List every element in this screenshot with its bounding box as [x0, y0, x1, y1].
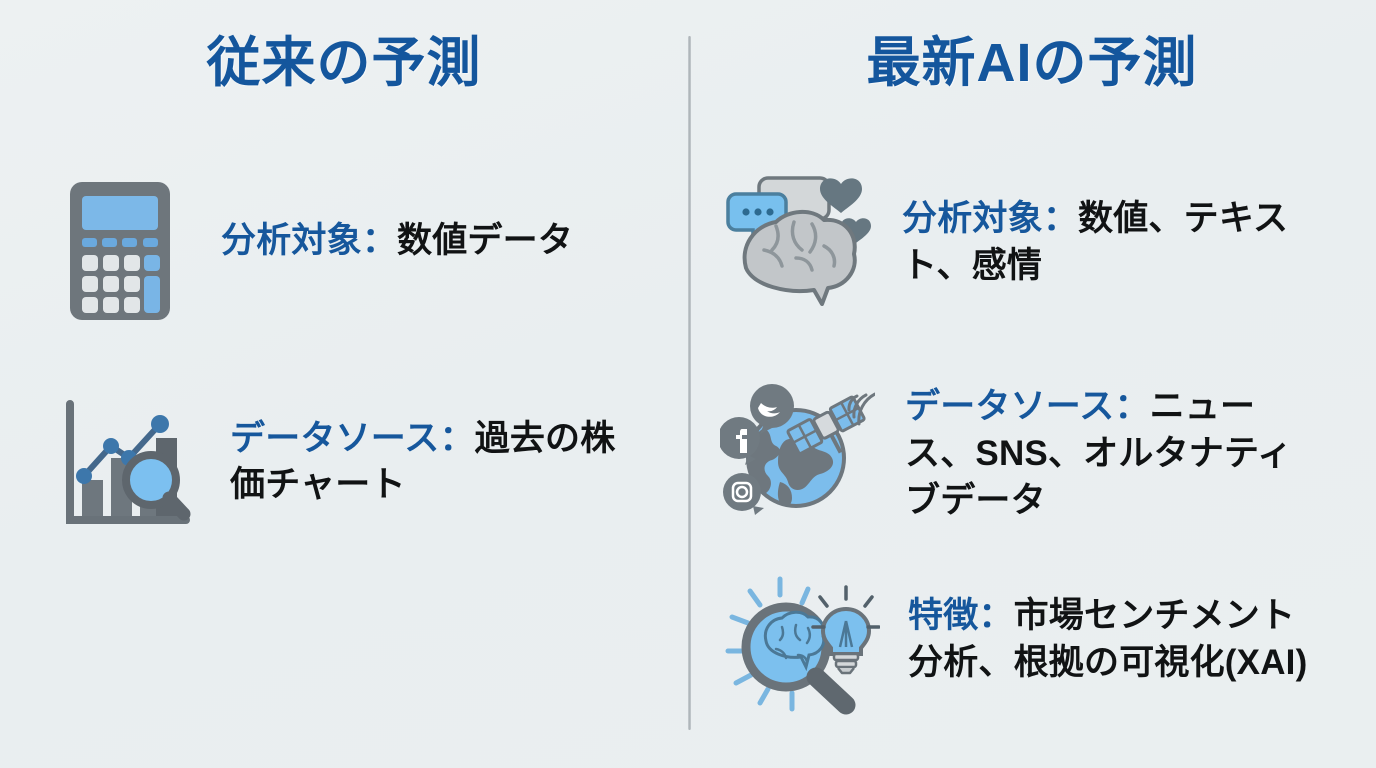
right-item-1-colon: ：	[1043, 199, 1078, 238]
left-item-1-colon: ：	[362, 221, 397, 260]
right-column: 最新AIの予測 分析対象：数値、テキスト、感情	[688, 0, 1376, 768]
left-item-2-text: データソース：過去の株価チャート	[230, 416, 650, 508]
magnifier-brain-bulb-icon	[720, 565, 880, 715]
right-item-1-label: 分析対象	[902, 199, 1043, 238]
right-item-3: 特徴：市場センチメント分析、根拠の可視化(XAI)	[720, 565, 1323, 715]
comparison-slide: 従来の予測	[0, 0, 1376, 768]
right-item-1-text: 分析対象：数値、テキスト、感情	[902, 196, 1302, 290]
bar-chart-magnifier-icon	[56, 396, 196, 536]
right-item-2-label: データソース	[905, 387, 1114, 426]
right-item-3-text: 特徴：市場センチメント分析、根拠の可視化(XAI)	[908, 593, 1323, 687]
left-item-2-label: データソース	[230, 419, 439, 458]
calculator-icon	[58, 176, 182, 326]
brain-speech-hearts-icon	[724, 166, 874, 306]
left-column: 従来の予測	[0, 0, 688, 768]
right-item-2: データソース：ニュース、SNS、オルタナティブデータ	[720, 370, 1313, 525]
right-item-2-text: データソース：ニュース、SNS、オルタナティブデータ	[905, 384, 1313, 525]
right-item-1: 分析対象：数値、テキスト、感情	[724, 166, 1302, 306]
globe-social-satellite-icon	[720, 370, 875, 520]
right-item-3-colon: ：	[978, 596, 1013, 635]
left-item-1-label: 分析対象	[221, 221, 362, 260]
left-item-2-colon: ：	[439, 419, 474, 458]
right-item-2-colon: ：	[1114, 387, 1149, 426]
left-column-title: 従来の予測	[0, 34, 688, 93]
left-item-1-value: 数値データ	[397, 221, 573, 260]
left-item-1: 分析対象：数値データ	[58, 176, 651, 326]
right-item-3-label: 特徴	[908, 596, 978, 635]
left-item-2: データソース：過去の株価チャート	[56, 396, 650, 536]
left-item-1-text: 分析対象：数値データ	[221, 218, 651, 264]
right-column-title: 最新AIの予測	[688, 34, 1376, 93]
